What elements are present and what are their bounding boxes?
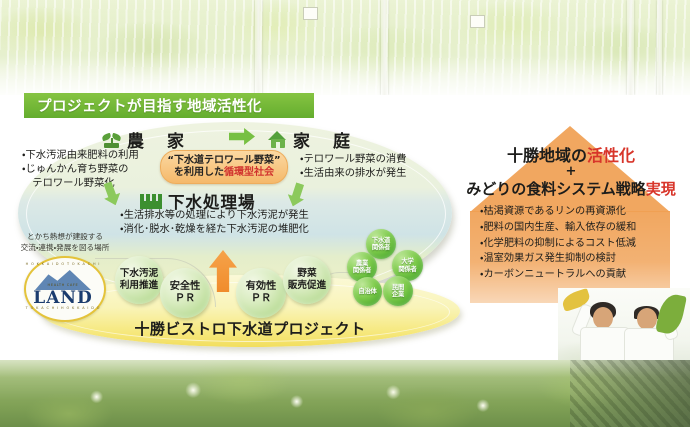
stakeholder-circle-private: 民間 企業 (383, 276, 413, 306)
promo-circle-1: 下水汚泥 利用推進 (115, 256, 163, 304)
callout-line-1: “下水道テロワール野菜” (167, 155, 280, 167)
land-logo: H O K K A I D O T O K A C H I HEALTH CAF… (24, 256, 102, 318)
goal-heading-1-prefix: 十勝地域の (507, 146, 587, 165)
land-description-note: とかち熱想が建設する 交流・連携・発展を図る場所 (6, 232, 124, 253)
goal-heading-1: 十勝地域の活性化 (452, 142, 690, 166)
plant-label-tag (470, 15, 485, 28)
banner-title-text: プロジェクトが目指す地域活性化 (37, 95, 262, 116)
infographic-canvas: プロジェクトが目指す地域活性化 農 家 ・下水汚泥由来肥料の利用 ・じゅんかん育… (0, 0, 690, 427)
callout-line-2: を利用した循環型社会 (174, 167, 274, 179)
stakeholder-circle-municipality: 自治体 (353, 277, 382, 306)
goal-panel: 十勝地域の活性化 + みどりの食料システム戦略実現 ・枯渇資源であるリンの再資源… (452, 120, 690, 315)
sprout-icon (102, 131, 121, 148)
node-home-heading: 家 庭 (268, 127, 353, 152)
land-logo-wordmark: LAND (24, 288, 102, 308)
person-left-head (593, 307, 613, 329)
goal-heading-2-highlight: 実現 (646, 180, 676, 198)
node-farm-bullets: ・下水汚泥由来肥料の利用 ・じゅんかん育ち野菜の テロワール野菜化 (22, 148, 139, 191)
callout-line-2-prefix: を利用した (174, 167, 224, 178)
greenhouse-photo-top (0, 0, 690, 95)
factory-icon (140, 194, 162, 209)
greenhouse-post (627, 0, 634, 95)
house-icon (268, 131, 287, 148)
goal-heading-2-prefix: みどりの食料システム戦略 (466, 180, 646, 198)
node-home-bullets: ・テロワール野菜の消費 ・生活由来の排水が発生 (300, 152, 406, 180)
promo-circle-4: 野菜 販売促進 (283, 256, 331, 304)
callout-line-2-highlight: 循環型社会 (224, 167, 274, 178)
project-title: 十勝ビストロ下水道プロジェクト (70, 318, 430, 339)
promo-circle-3: 有効性 ＰＲ (236, 268, 286, 318)
field-photo-bottom (0, 360, 690, 427)
goal-heading-2: みどりの食料システム戦略実現 (452, 178, 690, 199)
person-left-body (580, 327, 630, 362)
greenhouse-post (657, 0, 662, 95)
goal-bullets: ・枯渇資源であるリンの再資源化 ・肥料の国内生産、輸入依存の緩和 ・化学肥料の抑… (470, 204, 674, 283)
greenhouse-post (381, 0, 388, 95)
greenhouse-post (255, 0, 262, 95)
plant-label-tag (303, 7, 318, 20)
land-logo-bottom-text: T O K A C H I H O K K A I D O (24, 306, 102, 310)
promo-circle-2: 安全性 ＰＲ (160, 268, 210, 318)
node-plant-bullets: ・生活排水等の処理により下水汚泥が発生 ・消化･脱水･乾燥を経た下水汚泥の堆肥化 (120, 208, 309, 236)
person-right-head (637, 308, 657, 330)
banner-title-bar: プロジェクトが目指す地域活性化 (24, 93, 314, 118)
land-logo-top-text: H O K K A I D O T O K A C H I (24, 262, 102, 266)
staff-photo (558, 288, 690, 362)
land-logo-mid-text: HEALTH CAFE (24, 283, 102, 287)
circular-society-callout: “下水道テロワール野菜” を利用した循環型社会 (160, 150, 288, 184)
goal-heading-1-highlight: 活性化 (587, 146, 635, 165)
node-home-title: 家 庭 (293, 127, 353, 152)
goal-plus-symbol: + (452, 164, 690, 179)
